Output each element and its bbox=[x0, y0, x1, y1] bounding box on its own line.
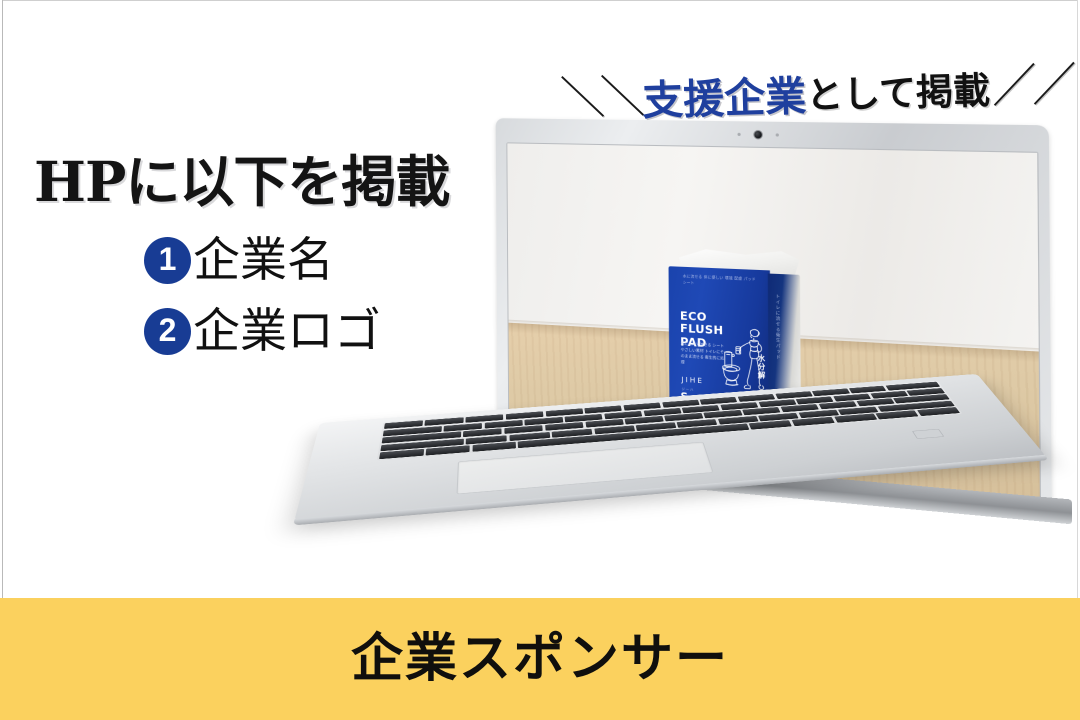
laptop-mockup: 水に流せる 体に優しい 環境 配慮 パッド シート ECO FLUSH PAD … bbox=[320, 118, 1060, 588]
webcam-icon bbox=[753, 129, 763, 139]
bottom-banner: 企業スポンサー bbox=[0, 598, 1080, 720]
frame-divider-top bbox=[2, 0, 1078, 1]
package-logo: JIHE bbox=[681, 376, 704, 386]
key[interactable] bbox=[917, 407, 960, 416]
promo-slide: ＼＼ 支援企業 として掲載 ／／ HPに以下を掲載 1 企業名 2 企業ロゴ bbox=[0, 0, 1080, 720]
bottom-banner-label: 企業スポンサー bbox=[351, 633, 729, 685]
package-micro-text: 水に流せる 体に優しい 環境 配慮 パッド シート bbox=[683, 274, 760, 289]
package-description: 水にとけて流せる シート やさしい素材 トイレにそのまま流せる 衛生的に処理 bbox=[681, 341, 726, 368]
numbered-badge-1: 1 bbox=[144, 237, 191, 284]
key[interactable] bbox=[876, 411, 919, 420]
mic-dot-right-icon bbox=[775, 133, 778, 136]
package-side-text: トイレに流せる衛生パッド bbox=[775, 294, 782, 360]
decorative-slash-left-icon: ＼＼ bbox=[560, 74, 641, 121]
frame-divider-right bbox=[1077, 0, 1078, 598]
frame-divider-left bbox=[2, 0, 3, 598]
mic-dot-left-icon bbox=[737, 132, 740, 135]
fingerprint-icon[interactable] bbox=[912, 429, 944, 439]
decorative-slash-right-icon: ／／ bbox=[991, 62, 1072, 109]
list-item-label: 企業名 bbox=[193, 237, 334, 284]
header-catch-tail: として掲載 bbox=[805, 60, 990, 119]
numbered-badge-2: 2 bbox=[144, 308, 191, 355]
